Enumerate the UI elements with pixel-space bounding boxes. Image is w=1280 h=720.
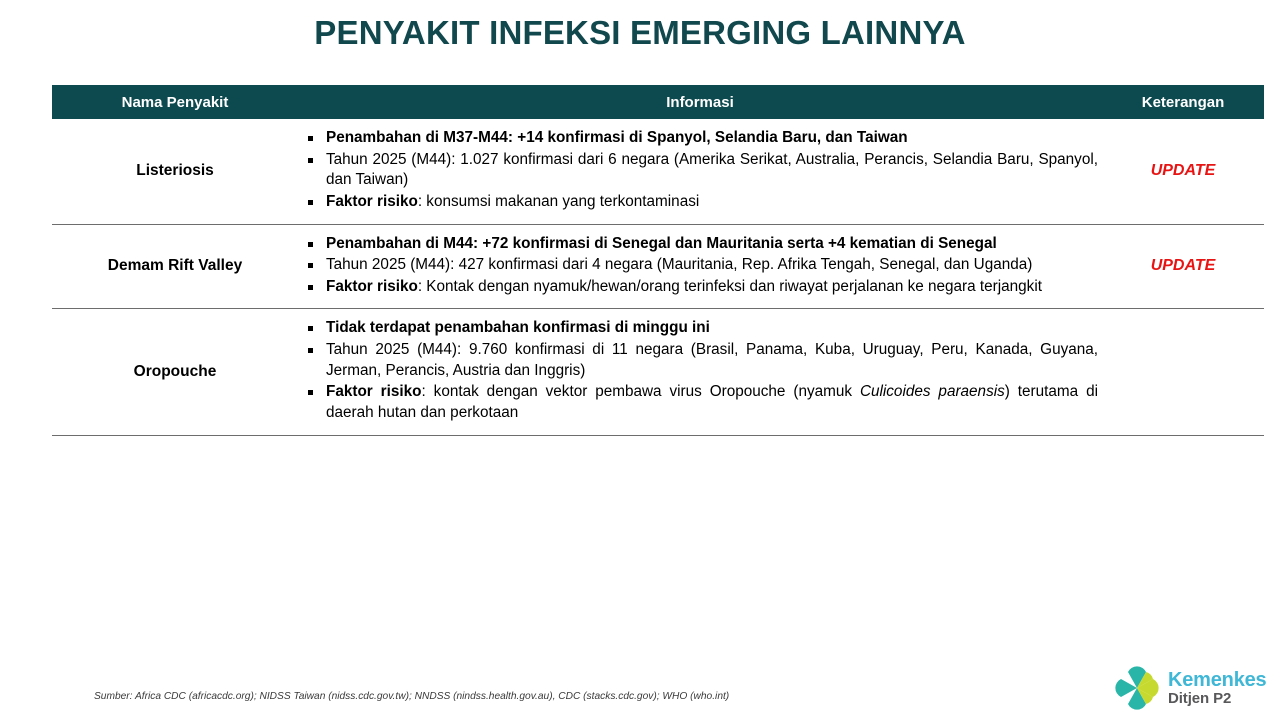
info-bullet-list: Penambahan di M44: +72 konfirmasi di Sen… [302,234,1098,298]
page-title: PENYAKIT INFEKSI EMERGING LAINNYA [0,14,1280,52]
disease-name: Oropouche [52,309,298,435]
disease-table-container: Nama Penyakit Informasi Keterangan Liste… [52,85,1228,436]
logo-text-block: Kemenkes Ditjen P2 [1168,670,1266,707]
column-header-keterangan: Keterangan [1102,85,1264,119]
species-name: Culicoides paraensis [860,383,1005,400]
list-item: Penambahan di M44: +72 konfirmasi di Sen… [302,234,1098,255]
status-badge: UPDATE [1102,224,1264,309]
column-header-informasi: Informasi [298,85,1102,119]
disease-table: Nama Penyakit Informasi Keterangan Liste… [52,85,1264,436]
risk-factor-label: Faktor risiko [326,383,422,400]
list-item: Tidak terdapat penambahan konfirmasi di … [302,318,1098,339]
status-badge [1102,309,1264,435]
kemenkes-clover-icon [1112,663,1162,713]
risk-factor-label: Faktor risiko [326,278,418,295]
logo-name: Kemenkes [1168,670,1266,691]
disease-info: Penambahan di M37-M44: +14 konfirmasi di… [298,119,1102,224]
table-row: Demam Rift Valley Penambahan di M44: +72… [52,224,1264,309]
risk-factor-label: Faktor risiko [326,193,418,210]
info-bullet-list: Tidak terdapat penambahan konfirmasi di … [302,318,1098,423]
source-note: Sumber: Africa CDC (africacdc.org); NIDS… [94,691,729,702]
risk-factor-text: : Kontak dengan nyamuk/hewan/orang terin… [418,278,1042,295]
disease-info: Penambahan di M44: +72 konfirmasi di Sen… [298,224,1102,309]
kemenkes-logo: Kemenkes Ditjen P2 [1112,660,1274,716]
list-item: Faktor risiko: kontak dengan vektor pemb… [302,382,1098,423]
list-item: Faktor risiko: Kontak dengan nyamuk/hewa… [302,277,1098,298]
risk-factor-text: : konsumsi makanan yang terkontaminasi [418,193,699,210]
table-row: Listeriosis Penambahan di M37-M44: +14 k… [52,119,1264,224]
list-item: Tahun 2025 (M44): 427 konfirmasi dari 4 … [302,255,1098,276]
disease-name: Listeriosis [52,119,298,224]
table-header-row: Nama Penyakit Informasi Keterangan [52,85,1264,119]
list-item: Penambahan di M37-M44: +14 konfirmasi di… [302,128,1098,149]
list-item: Faktor risiko: konsumsi makanan yang ter… [302,192,1098,213]
table-row: Oropouche Tidak terdapat penambahan konf… [52,309,1264,435]
info-bullet-list: Penambahan di M37-M44: +14 konfirmasi di… [302,128,1098,213]
disease-name: Demam Rift Valley [52,224,298,309]
list-item: Tahun 2025 (M44): 1.027 konfirmasi dari … [302,150,1098,191]
risk-factor-text: : kontak dengan vektor pembawa virus Oro… [422,383,860,400]
table-header: Nama Penyakit Informasi Keterangan [52,85,1264,119]
status-badge: UPDATE [1102,119,1264,224]
list-item: Tahun 2025 (M44): 9.760 konfirmasi di 11… [302,340,1098,381]
logo-subtitle: Ditjen P2 [1168,691,1266,707]
column-header-nama-penyakit: Nama Penyakit [52,85,298,119]
table-body: Listeriosis Penambahan di M37-M44: +14 k… [52,119,1264,435]
disease-info: Tidak terdapat penambahan konfirmasi di … [298,309,1102,435]
